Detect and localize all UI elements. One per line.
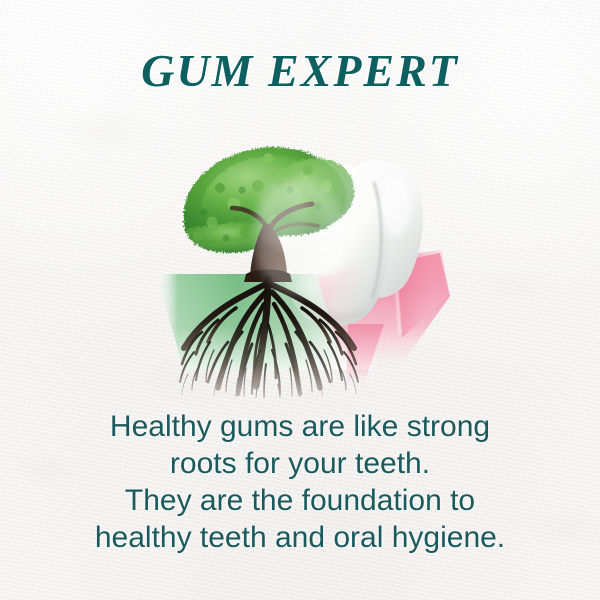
page-title: GUM EXPERT bbox=[0, 44, 600, 97]
tree-tooth-illustration bbox=[150, 128, 460, 398]
tagline-line-3: They are the foundation to bbox=[30, 482, 570, 519]
tagline-text: Healthy gums are like strong roots for y… bbox=[30, 408, 570, 556]
tagline-line-2: roots for your teeth. bbox=[30, 445, 570, 482]
poster-canvas: GUM EXPERT bbox=[0, 0, 600, 600]
tagline-line-4: healthy teeth and oral hygiene. bbox=[30, 519, 570, 556]
tagline-line-1: Healthy gums are like strong bbox=[30, 408, 570, 445]
